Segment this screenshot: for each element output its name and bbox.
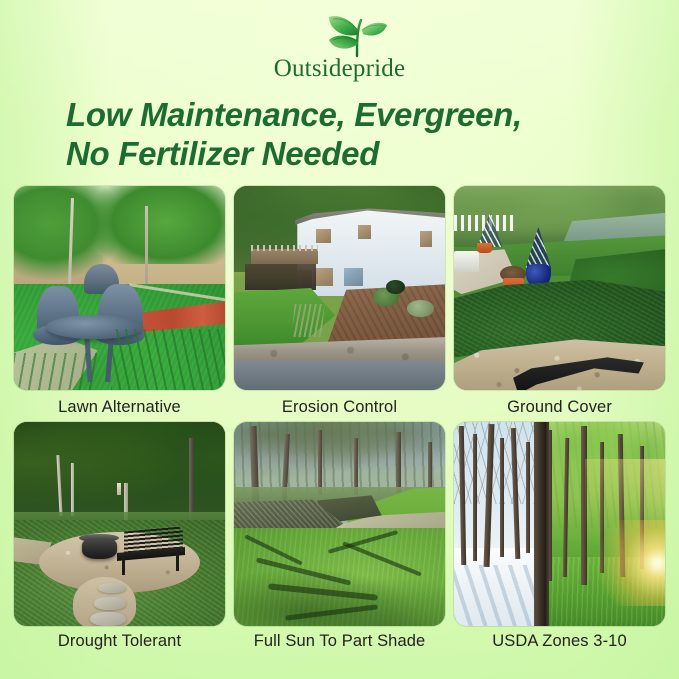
- feature-caption: Drought Tolerant: [58, 632, 181, 651]
- sprout-leaves-icon: [307, 8, 399, 60]
- feature-caption: Lawn Alternative: [58, 398, 181, 417]
- feature-card-drought-tolerant: Drought Tolerant: [14, 422, 225, 651]
- feature-caption: Full Sun To Part Shade: [254, 632, 426, 651]
- feature-photo-erosion-control: [234, 186, 445, 390]
- feature-photo-drought-tolerant: [14, 422, 225, 626]
- feature-card-ground-cover: Ground Cover: [454, 186, 665, 417]
- feature-caption: Ground Cover: [507, 398, 612, 417]
- feature-photo-full-sun-part-shade: [234, 422, 445, 626]
- page-title: Low Maintenance, Evergreen, No Fertilize…: [66, 96, 646, 173]
- feature-photo-lawn-alternative: [14, 186, 225, 390]
- feature-card-full-sun-part-shade: Full Sun To Part Shade: [234, 422, 445, 651]
- headline-line-2: No Fertilizer Needed: [66, 135, 646, 174]
- feature-card-erosion-control: Erosion Control: [234, 186, 445, 417]
- feature-caption: USDA Zones 3-10: [492, 632, 626, 651]
- feature-grid: Lawn Alternative Erosion Control: [14, 186, 665, 651]
- feature-photo-usda-zones: [454, 422, 665, 626]
- headline-line-1: Low Maintenance, Evergreen,: [66, 96, 522, 133]
- promo-poster: Outsidepride Low Maintenance, Evergreen,…: [0, 0, 679, 679]
- feature-card-lawn-alternative: Lawn Alternative: [14, 186, 225, 417]
- brand-logo: Outsidepride: [0, 8, 679, 92]
- feature-photo-ground-cover: [454, 186, 665, 390]
- feature-caption: Erosion Control: [282, 398, 397, 417]
- feature-card-usda-zones: USDA Zones 3-10: [454, 422, 665, 651]
